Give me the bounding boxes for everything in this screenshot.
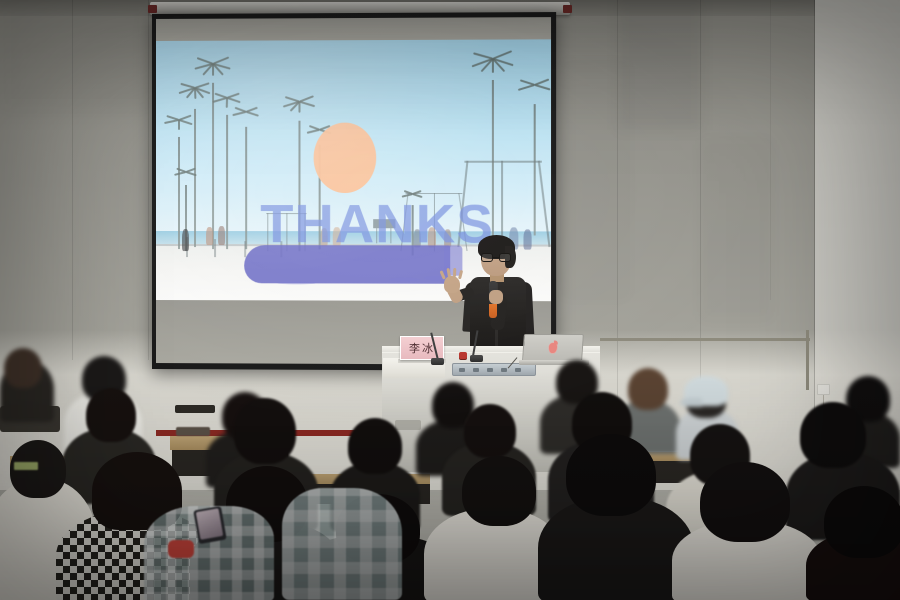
audience-head (628, 368, 668, 410)
audience-head (800, 402, 866, 468)
student-desk (175, 405, 215, 413)
audience-head (348, 418, 402, 474)
wall-stain (700, 140, 772, 320)
slide-brush-speck (276, 281, 316, 284)
fence-post (214, 239, 216, 257)
audience-head (462, 456, 536, 526)
audience-head (824, 486, 900, 558)
roller-end-cap (563, 5, 572, 13)
presenter-right-hand (489, 290, 503, 304)
podium-red-button[interactable] (459, 352, 467, 359)
wall-stain (560, 60, 630, 300)
beach-figure (218, 226, 225, 245)
audience-head (566, 434, 656, 516)
beach-figure (206, 227, 213, 245)
audience-head (700, 462, 790, 542)
lecture-hall-photo: THANKS (0, 0, 900, 600)
beach-figure (523, 229, 531, 249)
wall-stain (0, 0, 150, 110)
roller-end-cap (148, 5, 157, 13)
desk-item-paper (14, 462, 38, 470)
palm-tree (232, 111, 260, 249)
audience-head (86, 388, 136, 442)
cap-brim (680, 398, 702, 407)
audience-head (4, 348, 42, 388)
podium-vent (395, 420, 421, 430)
podium-microphone-base (470, 355, 483, 362)
apple-logo-icon (548, 342, 558, 353)
slide-brush-stroke (244, 245, 450, 284)
hand-holding-phone (168, 540, 194, 558)
whiteboard-edge (806, 330, 809, 390)
laptop[interactable] (522, 334, 584, 361)
apple-leaf-icon (554, 340, 558, 344)
audience-head (464, 404, 516, 458)
audience-head (234, 398, 296, 464)
presenter-left-hand (444, 276, 460, 293)
smartphone-screen (196, 508, 224, 540)
wall-stain (618, 0, 702, 130)
fence-post (244, 241, 246, 257)
light-switch[interactable] (817, 384, 830, 395)
plaid-shirt (282, 488, 402, 600)
presenter-name-text: 李冰 (409, 340, 435, 356)
eyeglasses-icon (481, 253, 511, 262)
screen-unlit-top (156, 17, 551, 41)
microphone-tip (489, 304, 497, 318)
slide-brush-speck (389, 278, 419, 282)
beach-figure (182, 229, 189, 251)
podium-microphone-base (431, 358, 444, 365)
slide-sun-circle (314, 123, 377, 193)
desk-item-book (176, 427, 210, 436)
whiteboard-edge (600, 338, 810, 341)
wall-seam (814, 0, 815, 450)
